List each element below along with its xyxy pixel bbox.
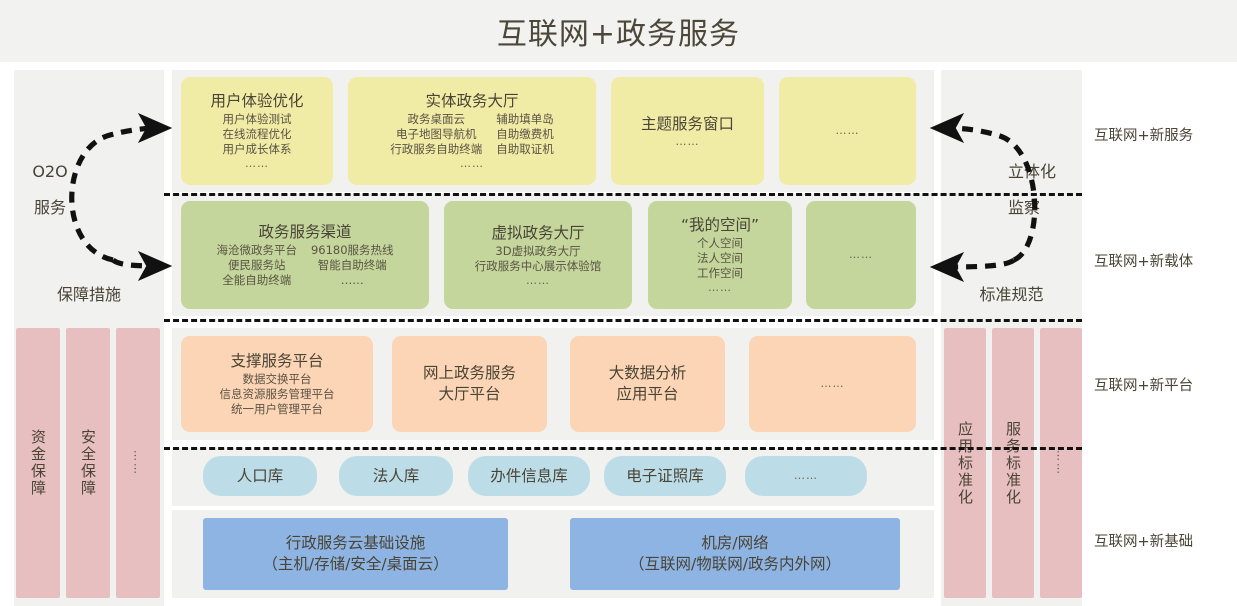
database-pill-e-certificate[interactable]: 电子证照库	[604, 456, 726, 496]
right-column-more[interactable]: ……	[1040, 328, 1082, 598]
left-column-funding[interactable]: 资金保障	[16, 328, 60, 598]
database-pill-case-info-label: 办件信息库	[490, 466, 568, 487]
infrastructure-block-admin-cloud-line1: 行政服务云基础设施	[286, 533, 426, 554]
carrier-block-my-space-item-1: 法人空间	[697, 251, 743, 266]
infrastructure-block-datacenter-network-line1: 机房/网络	[701, 533, 768, 554]
service-block-physical-hall[interactable]: 实体政务大厅 政务桌面云 电子地图导航机 行政服务自助终端 辅助填单岛 自助缴费…	[348, 77, 596, 185]
database-pill-more-label: ……	[794, 469, 818, 483]
carrier-block-service-channel-item-r2: ……	[341, 273, 364, 288]
platform-block-more[interactable]: ……	[749, 336, 916, 432]
service-block-physical-hall-item-l2: 行政服务自助终端	[390, 142, 482, 157]
service-block-ux-item-0: 用户体验测试	[223, 112, 292, 127]
axis-label-new-carrier: 互联网+新载体	[1094, 250, 1193, 271]
right-column-app-standardization[interactable]: 应用标准化	[944, 328, 986, 598]
carrier-block-service-channel-item-l1: 便民服务站	[228, 258, 286, 273]
carrier-block-virtual-hall-item-0: 3D虚拟政务大厅	[495, 244, 580, 259]
carrier-block-service-channel-title: 政务服务渠道	[258, 222, 351, 242]
service-block-ux-dots: ……	[245, 157, 269, 171]
carrier-block-service-channel-item-l0: 海沧微政务平台	[216, 243, 297, 258]
right-column-more-label: ……	[1055, 450, 1068, 476]
platform-block-more-dots: ……	[821, 377, 845, 391]
service-block-physical-hall-item-l0: 政务桌面云	[408, 112, 466, 127]
carrier-block-my-space-item-2: 工作空间	[697, 266, 743, 281]
left-caption-o2o-line2: 服务	[14, 193, 86, 223]
layer-separator-carrier-platform	[164, 319, 1082, 322]
service-block-ux-item-1: 在线流程优化	[223, 127, 292, 142]
platform-block-support-service-item-1: 信息资源服务管理平台	[220, 387, 335, 402]
platform-block-support-service[interactable]: 支撑服务平台 数据交换平台 信息资源服务管理平台 统一用户管理平台	[181, 336, 373, 432]
axis-label-new-service: 互联网+新服务	[1094, 124, 1193, 145]
service-block-ux-item-2: 用户成长体系	[223, 142, 292, 157]
layer-separator-platform-base	[164, 447, 1082, 450]
infrastructure-block-datacenter-network[interactable]: 机房/网络 （互联网/物联网/政务内外网）	[570, 518, 900, 590]
left-column-more[interactable]: ……	[116, 328, 160, 598]
carrier-block-my-space[interactable]: “我的空间” 个人空间 法人空间 工作空间 ……	[648, 201, 792, 309]
service-block-physical-hall-item-r1: 自助缴费机	[496, 127, 554, 142]
service-block-physical-hall-item-r2: 自助取证机	[496, 142, 554, 157]
platform-block-support-service-title: 支撑服务平台	[230, 351, 323, 371]
carrier-block-more-dots: ……	[849, 248, 873, 262]
service-block-more[interactable]: ……	[779, 77, 916, 185]
platform-block-support-service-item-2: 统一用户管理平台	[231, 402, 323, 417]
platform-block-online-hall-line1: 网上政务服务	[423, 363, 516, 384]
infrastructure-block-admin-cloud[interactable]: 行政服务云基础设施 （主机/存储/安全/桌面云）	[203, 518, 508, 590]
carrier-block-service-channel[interactable]: 政务服务渠道 海沧微政务平台 便民服务站 全能自助终端 96180服务热线 智能…	[181, 201, 429, 309]
database-pill-population[interactable]: 人口库	[203, 456, 317, 496]
right-caption-supervision-line1: 立体化	[1008, 157, 1084, 187]
carrier-block-my-space-dots: ……	[708, 281, 732, 295]
carrier-block-my-space-title: “我的空间”	[681, 215, 759, 235]
database-pill-more[interactable]: ……	[745, 456, 867, 496]
left-column-more-label: ……	[132, 450, 145, 476]
left-column-security-label: 安全保障	[79, 429, 97, 497]
database-pill-legal-entity[interactable]: 法人库	[339, 456, 453, 496]
right-caption-supervision-line2: 监察	[1008, 193, 1084, 223]
infrastructure-block-datacenter-network-line2: （互联网/物联网/政务内外网）	[629, 554, 841, 575]
carrier-block-virtual-hall-title: 虚拟政务大厅	[491, 223, 584, 243]
right-column-service-standardization[interactable]: 服务标准化	[992, 328, 1034, 598]
right-column-app-standardization-label: 应用标准化	[956, 421, 974, 506]
service-block-physical-hall-item-r0: 辅助填单岛	[496, 112, 554, 127]
service-block-more-dots: ……	[836, 124, 860, 138]
right-column-service-standardization-label: 服务标准化	[1004, 421, 1022, 506]
database-pill-e-certificate-label: 电子证照库	[626, 466, 704, 487]
axis-label-new-platform: 互联网+新平台	[1094, 374, 1193, 395]
platform-block-support-service-item-0: 数据交换平台	[243, 372, 312, 387]
carrier-block-virtual-hall-item-1: 行政服务中心展示体验馆	[475, 259, 602, 274]
service-block-physical-hall-dots: ……	[460, 157, 484, 171]
database-pill-case-info[interactable]: 办件信息库	[468, 456, 590, 496]
carrier-block-service-channel-item-r0: 96180服务热线	[311, 243, 394, 258]
page-title-bar: 互联网+政务服务	[0, 0, 1237, 62]
database-pill-legal-entity-label: 法人库	[373, 466, 420, 487]
platform-block-online-hall[interactable]: 网上政务服务 大厅平台	[392, 336, 547, 432]
carrier-block-virtual-hall[interactable]: 虚拟政务大厅 3D虚拟政务大厅 行政服务中心展示体验馆 ……	[444, 201, 632, 309]
service-block-physical-hall-title: 实体政务大厅	[425, 91, 518, 111]
service-block-ux-optimization-title: 用户体验优化	[210, 91, 303, 111]
carrier-block-more[interactable]: ……	[806, 201, 916, 309]
database-pill-population-label: 人口库	[237, 466, 284, 487]
layer-separator-service-carrier	[164, 193, 1082, 196]
service-block-physical-hall-item-l1: 电子地图导航机	[396, 127, 477, 142]
left-caption-o2o-line1: O2O	[14, 157, 86, 187]
diagram-frame: O2O 服务 保障措施 资金保障 安全保障 …… 立体化 监察 标准规范 应用标…	[0, 62, 1237, 606]
right-caption-standards: 标准规范	[941, 280, 1082, 310]
platform-block-bigdata-analytics-line1: 大数据分析	[609, 363, 687, 384]
platform-block-bigdata-analytics-line2: 应用平台	[616, 384, 678, 405]
page-title: 互联网+政务服务	[497, 9, 740, 53]
service-block-theme-window-title: 主题服务窗口	[641, 114, 734, 134]
carrier-block-my-space-item-0: 个人空间	[697, 236, 743, 251]
service-block-theme-window[interactable]: 主题服务窗口 ……	[611, 77, 764, 185]
left-column-security[interactable]: 安全保障	[66, 328, 110, 598]
axis-label-new-foundation: 互联网+新基础	[1094, 530, 1193, 551]
carrier-block-virtual-hall-dots: ……	[526, 274, 550, 288]
platform-block-bigdata-analytics[interactable]: 大数据分析 应用平台	[570, 336, 725, 432]
carrier-block-service-channel-item-l2: 全能自助终端	[222, 273, 291, 288]
platform-block-online-hall-line2: 大厅平台	[438, 384, 500, 405]
left-column-funding-label: 资金保障	[29, 429, 47, 497]
carrier-block-service-channel-item-r1: 智能自助终端	[318, 258, 387, 273]
left-caption-guarantee: 保障措施	[14, 280, 164, 310]
infrastructure-block-admin-cloud-line2: （主机/存储/安全/桌面云）	[262, 554, 448, 575]
service-block-theme-window-dots: ……	[676, 135, 700, 149]
service-block-ux-optimization[interactable]: 用户体验优化 用户体验测试 在线流程优化 用户成长体系 ……	[181, 77, 333, 185]
